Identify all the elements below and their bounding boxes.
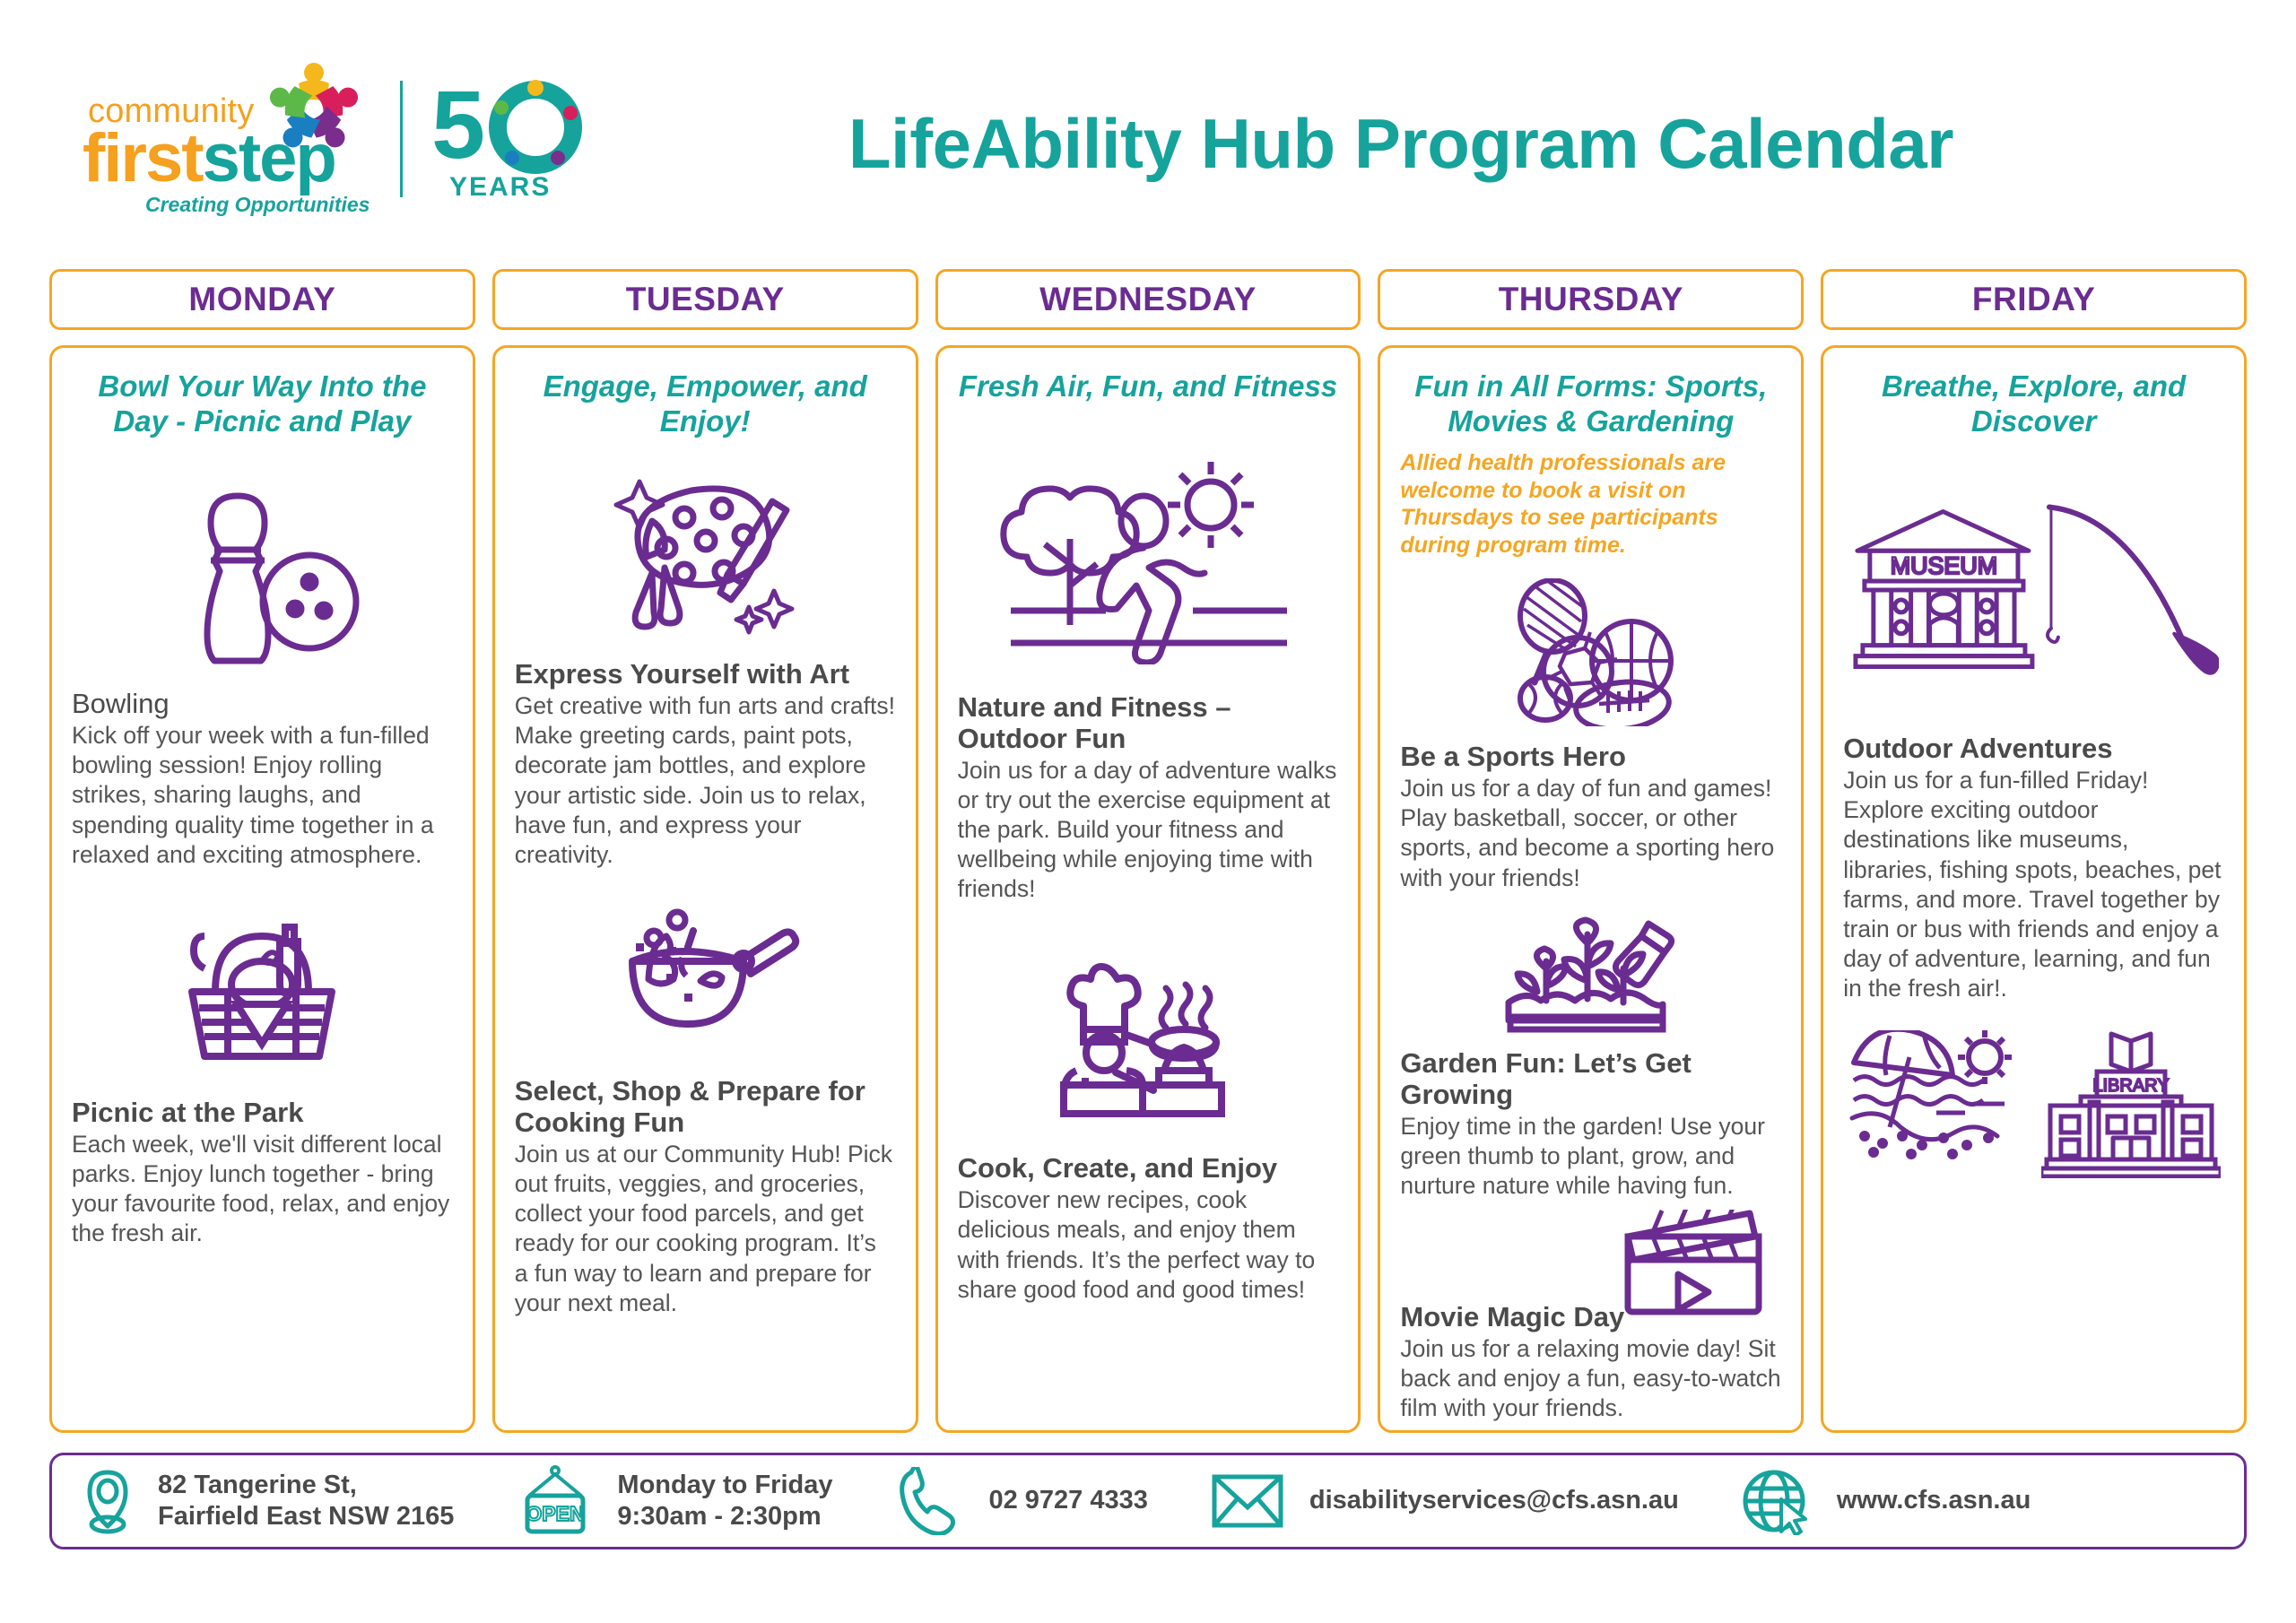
activity-title-outdoor-adventures: Outdoor Adventures [1843, 733, 2224, 764]
activity-title-nature-fitness: Nature and Fitness – Outdoor Fun [958, 691, 1339, 754]
logo-first-word: first [83, 120, 203, 196]
day-column-wednesday: WEDNESDAY Fresh Air, Fun, and Fitness [935, 269, 1361, 1433]
day-theme-wednesday: Fresh Air, Fun, and Fitness [958, 369, 1339, 404]
activity-title-cooking-prep: Select, Shop & Prepare for Cooking Fun [515, 1075, 896, 1138]
fishing-rod-icon [2040, 494, 2219, 682]
library-label: LIBRARY [2092, 1076, 2169, 1096]
picnic-basket-icon [172, 906, 352, 1072]
location-pin-icon [83, 1467, 133, 1535]
footer-hours-text: Monday to Friday 9:30am - 2:30pm [617, 1470, 832, 1533]
museum-icon: MUSEUM [1848, 506, 2040, 672]
globe-cursor-icon [1742, 1467, 1810, 1535]
anniversary-badge: 5 YEARS [430, 72, 591, 224]
activity-desc-cooking-prep: Join us at our Community Hub! Pick out f… [515, 1140, 896, 1318]
footer-hours: OPEN Monday to Friday 9:30am - 2:30pm [517, 1465, 832, 1537]
day-header-wednesday[interactable]: WEDNESDAY [935, 269, 1361, 330]
day-column-monday: MONDAY Bowl Your Way Into the Day - Picn… [49, 269, 475, 1433]
bowling-icon-wrap [72, 476, 453, 664]
day-theme-thursday: Fun in All Forms: Sports, Movies & Garde… [1400, 369, 1781, 438]
beach-library-icon-wrap: LIBRARY [1843, 1030, 2224, 1178]
activity-desc-nature-fitness: Join us for a day of adventure walks or … [958, 756, 1339, 905]
chef-cooking-icon [1049, 952, 1247, 1127]
footer-address-line1: 82 Tangerine St, [158, 1470, 454, 1501]
day-card-tuesday: Engage, Empower, and Enjoy! [492, 345, 918, 1433]
art-palette-icon [602, 465, 808, 640]
beach-umbrella-icon [1847, 1030, 2022, 1165]
activity-desc-outdoor-adventures: Join us for a fun-filled Friday! Explore… [1843, 766, 2224, 1003]
footer-website-text: www.cfs.asn.au [1837, 1485, 2031, 1516]
day-header-thursday[interactable]: THURSDAY [1378, 269, 1804, 330]
museum-label: MUSEUM [1891, 552, 1997, 579]
activity-desc-picnic: Each week, we'll visit different local p… [72, 1130, 453, 1249]
art-palette-icon-wrap [515, 465, 896, 640]
day-card-thursday: Fun in All Forms: Sports, Movies & Garde… [1378, 345, 1804, 1433]
community-first-step-logo: community firststep Creating Opportuniti… [81, 67, 377, 229]
day-header-monday[interactable]: MONDAY [49, 269, 475, 330]
activity-desc-art: Get creative with fun arts and crafts! M… [515, 691, 896, 870]
activity-desc-cook-create: Discover new recipes, cook delicious mea… [958, 1185, 1339, 1305]
activity-title-garden-fun: Garden Fun: Let’s Get Growing [1400, 1047, 1781, 1110]
day-column-tuesday: TUESDAY Engage, Empower, and Enjoy! [492, 269, 918, 1433]
people-circle-icon [251, 55, 377, 171]
day-theme-friday: Breathe, Explore, and Discover [1843, 369, 2224, 438]
activity-title-movie-magic: Movie Magic Day [1400, 1301, 1781, 1332]
open-label: OPEN [526, 1502, 585, 1525]
activity-title-art: Express Yourself with Art [515, 658, 896, 690]
fifty-years-icon: 5 [430, 72, 591, 179]
footer-hours-line2: 9:30am - 2:30pm [617, 1501, 832, 1532]
activity-desc-garden-fun: Enjoy time in the garden! Use your green… [1400, 1112, 1781, 1201]
activity-desc-sports-hero: Join us for a day of fun and games! Play… [1400, 774, 1781, 893]
footer-phone[interactable]: 02 9727 4333 [897, 1467, 1147, 1535]
day-column-thursday: THURSDAY Fun in All Forms: Sports, Movie… [1378, 269, 1804, 1433]
day-card-friday: Breathe, Explore, and Discover MUSEUM [1821, 345, 2247, 1433]
museum-fishing-icon-wrap: MUSEUM [1843, 494, 2224, 682]
day-column-friday: FRIDAY Breathe, Explore, and Discover MU… [1821, 269, 2247, 1433]
day-theme-monday: Bowl Your Way Into the Day - Picnic and … [72, 369, 453, 438]
phone-icon [897, 1467, 961, 1535]
brand-logo-block: community firststep Creating Opportuniti… [81, 67, 591, 229]
envelope-icon [1211, 1473, 1284, 1529]
chef-cooking-icon-wrap [958, 952, 1339, 1127]
activity-desc-bowling: Kick off your week with a fun-filled bow… [72, 721, 453, 870]
walking-outdoors-icon [1000, 449, 1296, 664]
page-header: community firststep Creating Opportuniti… [0, 0, 2296, 269]
day-card-wednesday: Fresh Air, Fun, and Fitness [935, 345, 1361, 1433]
activity-title-picnic: Picnic at the Park [72, 1097, 453, 1128]
footer-address-text: 82 Tangerine St, Fairfield East NSW 2165 [158, 1470, 454, 1533]
day-theme-tuesday: Engage, Empower, and Enjoy! [515, 369, 896, 438]
library-building-icon: LIBRARY [2041, 1030, 2221, 1178]
sports-balls-icon [1497, 578, 1685, 726]
footer-address-line2: Fairfield East NSW 2165 [158, 1501, 454, 1532]
picnic-basket-icon-wrap [72, 906, 453, 1072]
week-grid: MONDAY Bowl Your Way Into the Day - Picn… [0, 269, 2296, 1433]
open-sign-icon: OPEN [517, 1465, 594, 1537]
walking-outdoors-icon-wrap [958, 449, 1339, 664]
filler [515, 1318, 896, 1412]
cooking-pan-icon-wrap [515, 906, 896, 1054]
gardening-plants-icon [1501, 916, 1681, 1033]
logo-tagline: Creating Opportunities [145, 193, 370, 217]
footer-website[interactable]: www.cfs.asn.au [1742, 1467, 2031, 1535]
program-calendar-page: community firststep Creating Opportuniti… [0, 0, 2296, 1623]
sports-balls-icon-wrap [1400, 578, 1781, 726]
day-header-tuesday[interactable]: TUESDAY [492, 269, 918, 330]
filler [1843, 1178, 2224, 1412]
contact-footer: 82 Tangerine St, Fairfield East NSW 2165… [49, 1453, 2247, 1549]
anniversary-label: YEARS [449, 172, 551, 203]
day-header-friday[interactable]: FRIDAY [1821, 269, 2247, 330]
footer-phone-text: 02 9727 4333 [988, 1485, 1147, 1516]
filler [958, 1305, 1339, 1412]
day-card-monday: Bowl Your Way Into the Day - Picnic and … [49, 345, 475, 1433]
activity-desc-movie-magic: Join us for a relaxing movie day! Sit ba… [1400, 1334, 1781, 1423]
svg-text:5: 5 [431, 72, 485, 178]
cooking-pan-icon [602, 906, 808, 1054]
footer-email-text: disabilityservices@cfs.asn.au [1309, 1485, 1679, 1516]
bowling-icon [159, 476, 365, 664]
page-title: LifeAbility Hub Program Calendar [591, 103, 2247, 185]
footer-hours-line1: Monday to Friday [617, 1470, 832, 1501]
logo-divider [400, 81, 403, 197]
filler [72, 1248, 453, 1412]
footer-email[interactable]: disabilityservices@cfs.asn.au [1211, 1473, 1679, 1529]
gardening-plants-icon-wrap [1400, 916, 1781, 1033]
activity-title-bowling: Bowling [72, 688, 453, 719]
day-note-thursday: Allied health professionals are welcome … [1400, 449, 1781, 559]
footer-address: 82 Tangerine St, Fairfield East NSW 2165 [83, 1467, 454, 1535]
activity-title-sports-hero: Be a Sports Hero [1400, 741, 1781, 772]
activity-title-cook-create: Cook, Create, and Enjoy [958, 1152, 1339, 1184]
